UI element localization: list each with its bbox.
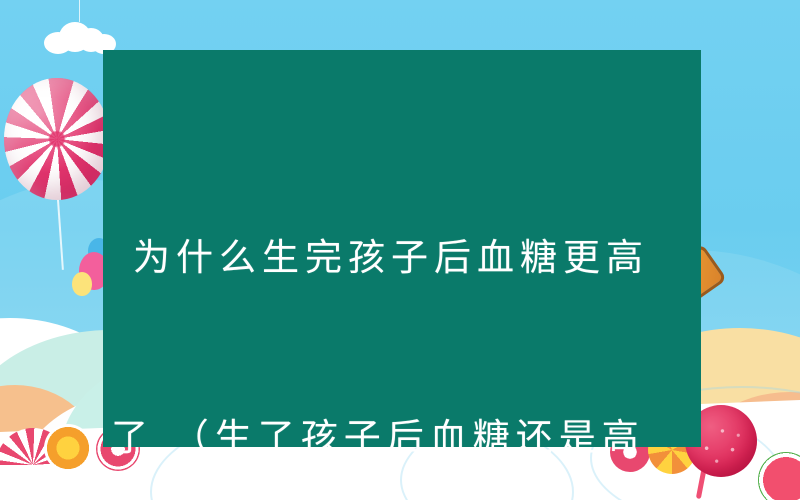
headline-line-1: 为什么生完孩子后血糖更高	[111, 228, 693, 288]
poster-headline: 为什么生完孩子后血糖更高 了 （生了孩子后血糖还是高 怎么办？）	[103, 50, 701, 447]
mini-balloon-yellow	[72, 272, 92, 296]
lollipop-balloon-center	[4, 78, 110, 200]
cloud-icon	[44, 20, 116, 50]
poster-canvas: 为什么生完孩子后血糖更高 了 （生了孩子后血糖还是高 怎么办？）	[0, 0, 800, 500]
cloud-string	[79, 0, 80, 22]
headline-line-2: 了 （生了孩子后血糖还是高	[111, 408, 693, 468]
citrus-lollipop-icon	[44, 424, 92, 472]
